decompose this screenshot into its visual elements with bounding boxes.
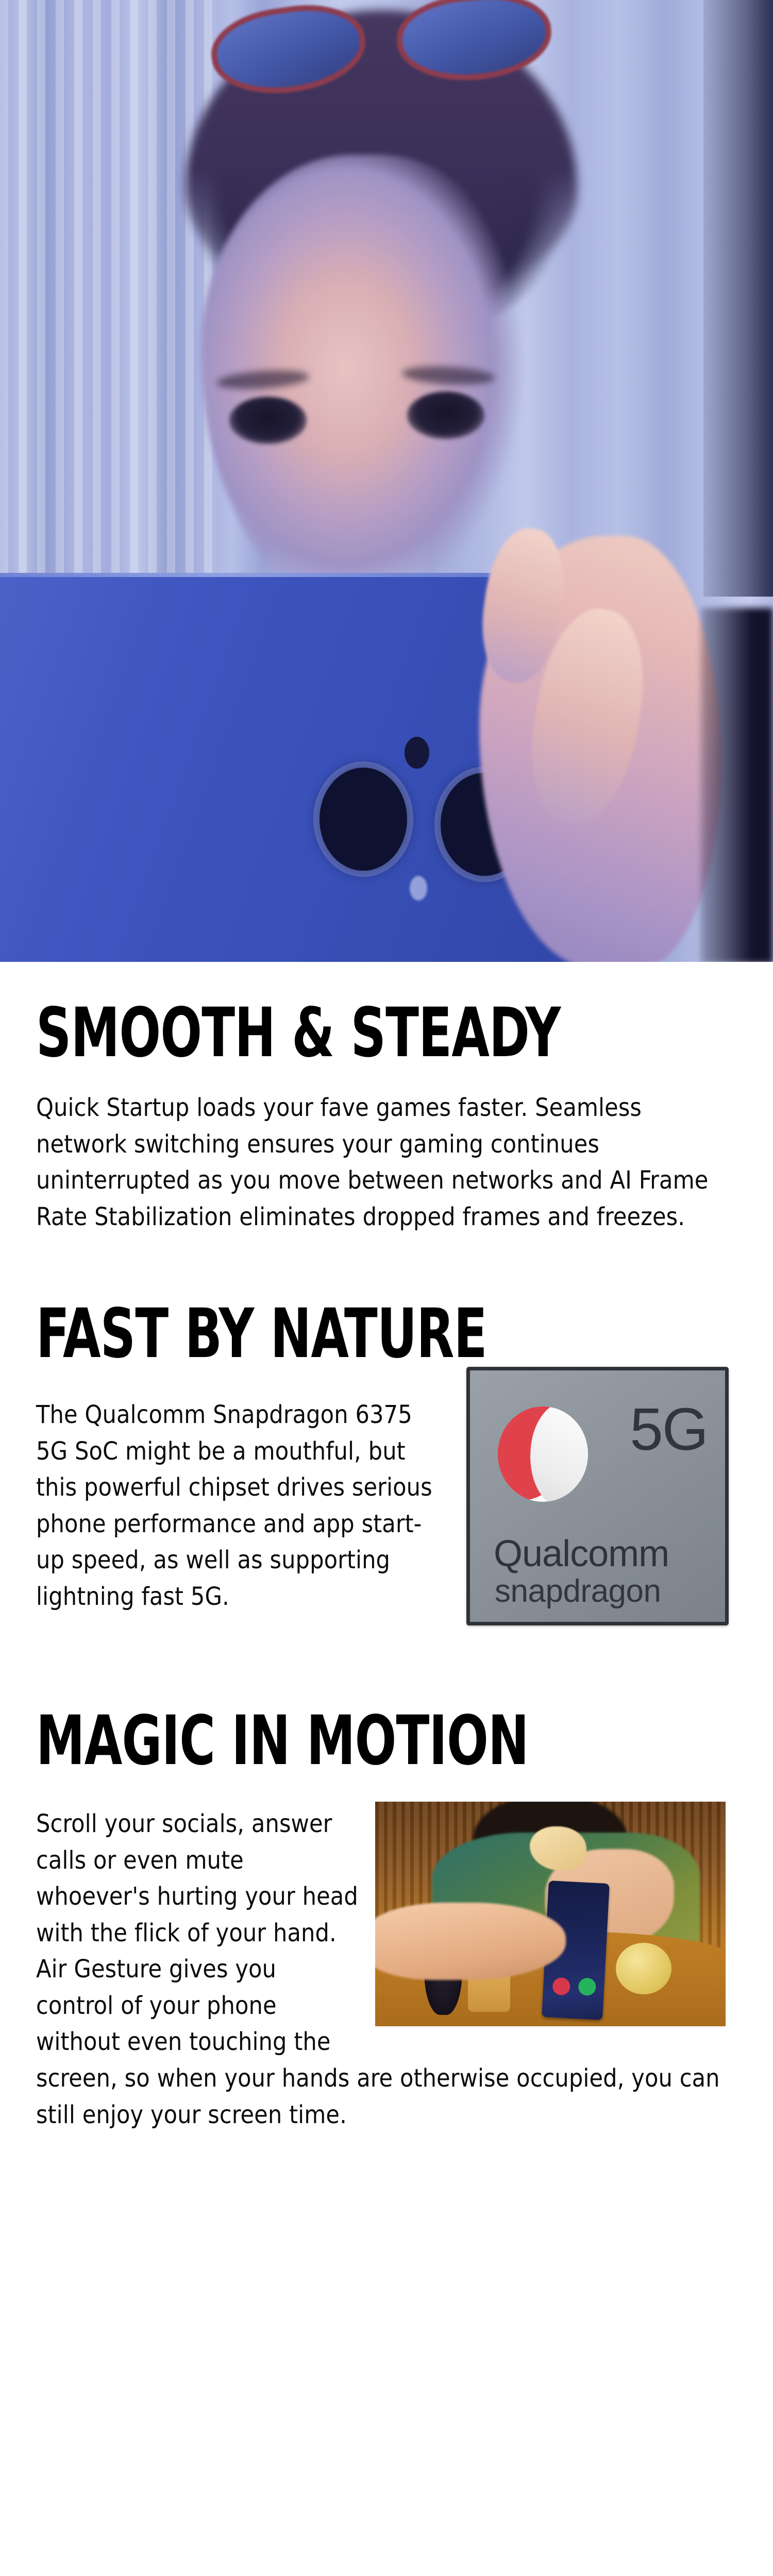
air-gesture-photo <box>375 1802 726 2026</box>
hero-sunglasses <box>196 0 577 108</box>
qualcomm-snapdragon-chip-image: 5G Qualcomm snapdragon <box>466 1367 729 1625</box>
section-smooth-steady: SMOOTH & STEADY Quick Startup loads your… <box>36 999 737 1235</box>
gesture-waving-hand <box>375 1903 566 1980</box>
hero-eye-right <box>407 392 484 439</box>
hero-phone-camera-3 <box>405 737 429 769</box>
gesture-lemon <box>616 1943 671 1994</box>
section-title-smooth-steady: SMOOTH & STEADY <box>36 999 597 1067</box>
hero-shadow-edge <box>703 0 773 597</box>
hero-phone-camera-1 <box>320 768 407 871</box>
section-title-fast-by-nature: FAST BY NATURE <box>36 1300 597 1368</box>
snapdragon-logo-icon <box>498 1406 588 1502</box>
accept-call-button-icon <box>578 1978 596 1996</box>
sunglass-lens-right <box>393 0 554 87</box>
chip-product-label: snapdragon <box>495 1575 661 1607</box>
section-body-smooth-steady: Quick Startup loads your fave games fast… <box>36 1090 727 1235</box>
section-row-fast-by-nature: 5G Qualcomm snapdragon The Qualcomm Snap… <box>36 1397 737 1631</box>
hero-image <box>0 0 773 962</box>
section-magic-in-motion: MAGIC IN MOTION Scroll your socials, ans… <box>36 1707 737 2133</box>
sunglass-lens-left <box>206 0 371 103</box>
hero-eye-left <box>229 397 307 444</box>
section-row-magic-in-motion: Scroll your socials, answer calls or eve… <box>36 1806 737 2133</box>
chip-brand-label: Qualcomm <box>494 1535 669 1572</box>
section-title-magic-in-motion: MAGIC IN MOTION <box>36 1707 597 1775</box>
hero-right-shadow <box>701 608 773 962</box>
decline-call-button-icon <box>552 1977 570 1996</box>
article-content: SMOOTH & STEADY Quick Startup loads your… <box>0 999 773 2133</box>
section-fast-by-nature: FAST BY NATURE 5G Qualcomm snapdragon Th… <box>36 1300 737 1631</box>
hero-phone-flash <box>410 876 427 901</box>
chip-5g-label: 5G <box>630 1399 708 1459</box>
